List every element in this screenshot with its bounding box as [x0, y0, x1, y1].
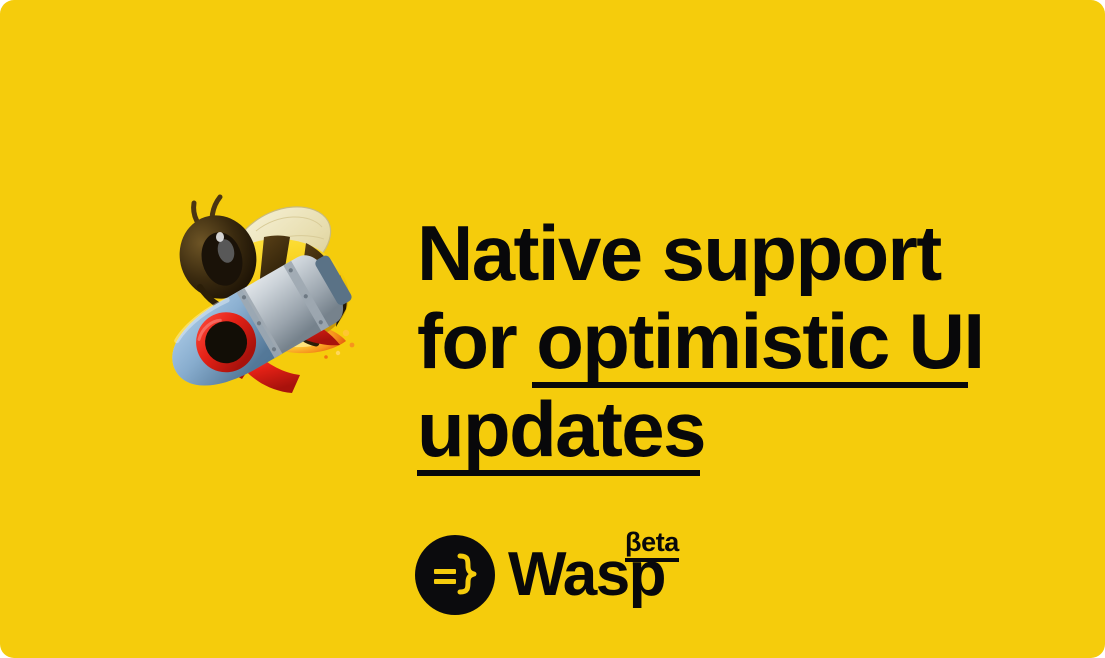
- cover-canvas: Native support for optimistic UI updates…: [0, 0, 1105, 658]
- bee-rocket-illustration: [150, 175, 365, 400]
- headline-line-3: updates: [417, 385, 1017, 473]
- headline-line-3-text: updates: [417, 385, 705, 473]
- headline-underline-updates: [417, 470, 700, 476]
- wasp-logo[interactable]: Wasp βeta: [415, 535, 665, 615]
- wasp-wordmark-group: Wasp βeta: [508, 535, 665, 615]
- headline: Native support for optimistic UI updates: [417, 209, 1017, 473]
- headline-line-2: for optimistic UI: [417, 297, 1017, 385]
- beta-badge: βeta: [625, 527, 679, 562]
- wasp-equals-brace-icon: [415, 535, 495, 615]
- headline-line-1-text: Native support: [417, 209, 941, 297]
- headline-line-2-text: for optimistic UI: [417, 297, 983, 385]
- headline-line-1: Native support: [417, 209, 1017, 297]
